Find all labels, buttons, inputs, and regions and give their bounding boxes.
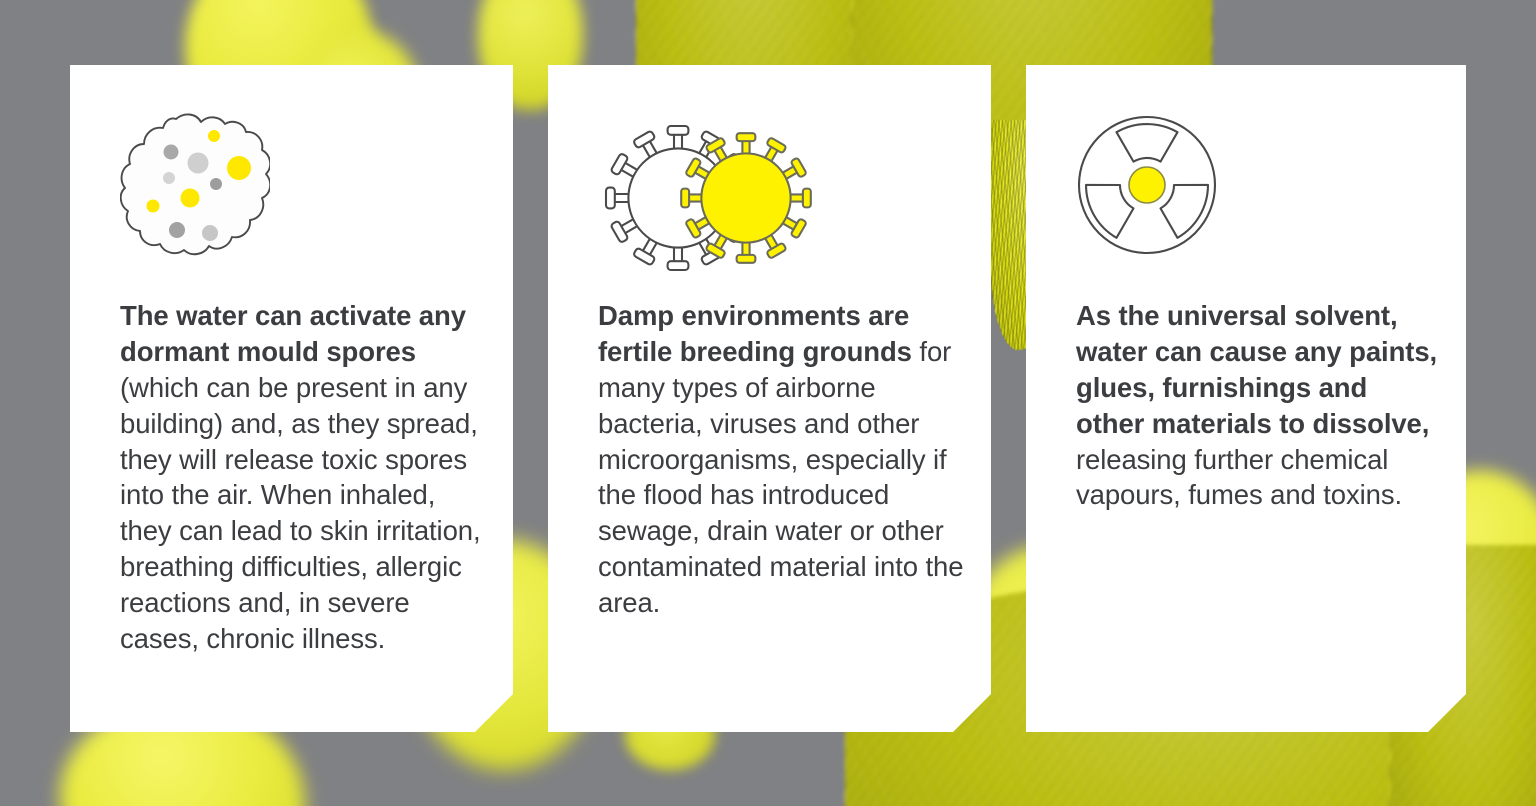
info-card-group: The water can activate any dormant mould… bbox=[0, 0, 1536, 806]
card-rest-text: (which can be present in any building) a… bbox=[120, 372, 481, 654]
card-body-text: Damp environments are fertile breeding g… bbox=[598, 298, 965, 621]
card-chemical-hazard: As the universal solvent, water can caus… bbox=[1026, 65, 1466, 732]
mould-spore-cloud-icon bbox=[120, 110, 270, 270]
cloud-outline bbox=[121, 114, 270, 254]
card-lead-text: The water can activate any dormant mould… bbox=[120, 300, 466, 367]
card-body-text: The water can activate any dormant mould… bbox=[120, 298, 487, 657]
virus-particles-icon bbox=[598, 110, 813, 290]
card-bacteria-viruses: Damp environments are fertile breeding g… bbox=[548, 65, 991, 732]
hazard-centre-dot bbox=[1129, 167, 1165, 203]
card-mould-spores: The water can activate any dormant mould… bbox=[70, 65, 513, 732]
card-rest-text: releasing further chemical vapours, fume… bbox=[1076, 444, 1402, 511]
radiation-hazard-icon bbox=[1076, 110, 1218, 265]
card-lead-text: Damp environments are fertile breeding g… bbox=[598, 300, 912, 367]
card-rest-text: for many types of airborne bacteria, vir… bbox=[598, 336, 963, 618]
card-body-text: As the universal solvent, water can caus… bbox=[1076, 298, 1440, 513]
card-lead-text: As the universal solvent, water can caus… bbox=[1076, 300, 1437, 439]
